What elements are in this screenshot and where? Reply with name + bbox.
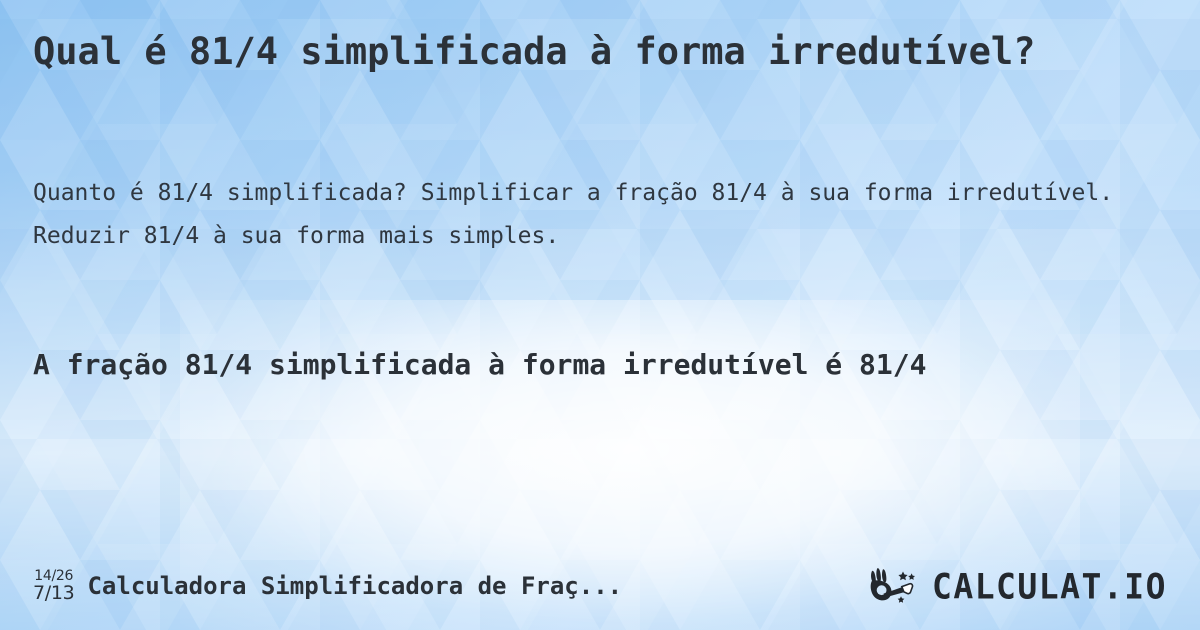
fraction-simplify-icon: 14/26 7/13 xyxy=(33,569,74,603)
brand-logo[interactable]: CALCULAT.IO xyxy=(869,567,1167,605)
footer: 14/26 7/13 Calculadora Simplificadora de… xyxy=(0,542,1200,630)
fraction-icon-denominator: 7/13 xyxy=(33,584,74,603)
footer-left: 14/26 7/13 Calculadora Simplificadora de… xyxy=(33,569,851,603)
page-subtitle: Quanto é 81/4 simplificada? Simplificar … xyxy=(33,172,1173,258)
brand-name: CALCULAT.IO xyxy=(932,569,1167,604)
social-card: Qual é 81/4 simplificada à forma irredut… xyxy=(0,0,1200,630)
answer-text: A fração 81/4 simplificada à forma irred… xyxy=(33,341,1168,389)
magic-wand-hand-icon xyxy=(869,567,925,605)
fraction-icon-numerator: 14/26 xyxy=(34,569,73,583)
site-title: Calculadora Simplificadora de Fraç... xyxy=(87,572,622,600)
page-title: Qual é 81/4 simplificada à forma irredut… xyxy=(33,27,1163,77)
card-content: Qual é 81/4 simplificada à forma irredut… xyxy=(0,0,1200,630)
